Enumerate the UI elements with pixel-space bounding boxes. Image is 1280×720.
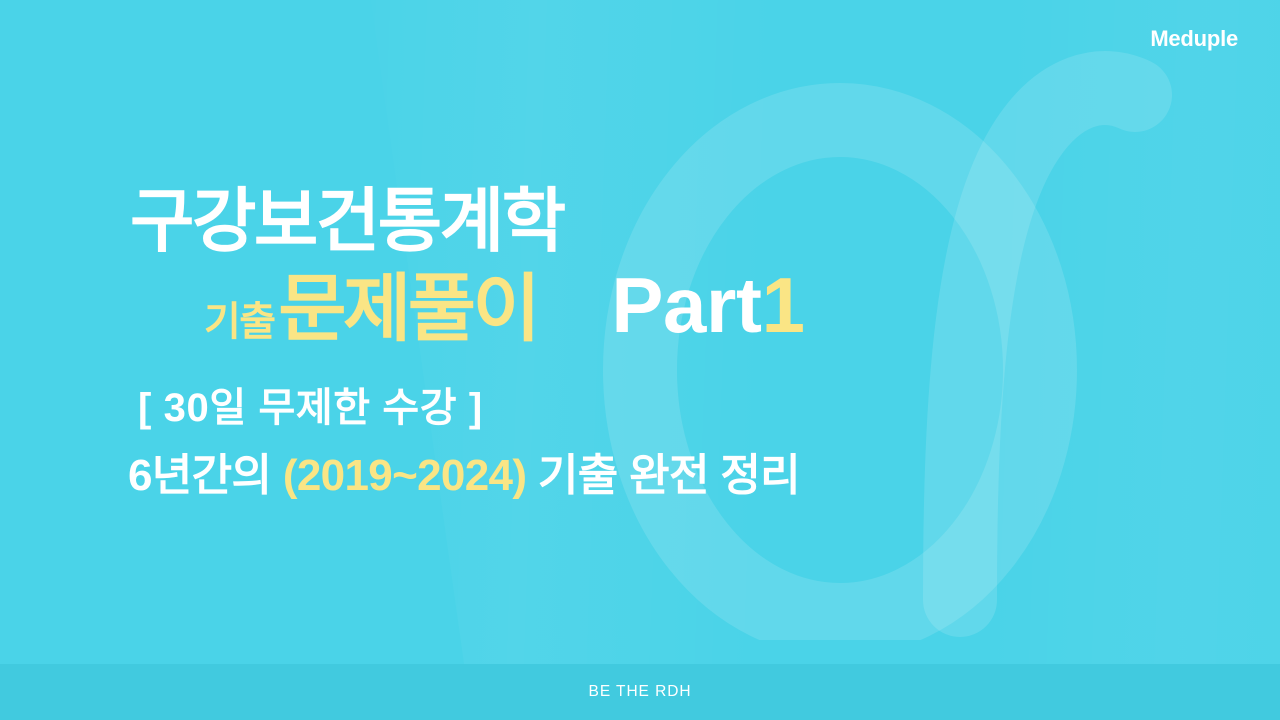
course-title: 구강보건통계학 [130,186,1188,256]
coverage-year-range: (2019~2024) [283,451,527,500]
part-word: Part [611,261,761,349]
slide-content: 구강보건통계학 기출 문제풀이 Part1 [ 30일 무제한 수강 ] 6년간… [128,186,1188,498]
footer-band: BE THE RDH [0,664,1280,720]
subtitle-coverage: 6년간의 (2019~2024) 기출 완전 정리 [128,454,1188,498]
problem-solving-label: 문제풀이 [278,272,537,346]
course-title-slide: Meduple 구강보건통계학 기출 문제풀이 Part1 [ 30일 무제한 … [0,0,1280,720]
coverage-summary-label: 기출 완전 정리 [526,451,800,500]
title-secondary-row: 기출 문제풀이 Part1 [128,266,1188,346]
subtitle-access-period: [ 30일 무제한 수강 ] [138,388,1188,428]
brand-logo: Meduple [1150,26,1238,52]
footer-tagline: BE THE RDH [589,683,692,701]
part-badge: Part1 [611,266,804,346]
past-exam-label: 기출 [128,302,274,346]
part-number: 1 [762,261,805,349]
coverage-years-label: 6년간의 [128,451,283,500]
